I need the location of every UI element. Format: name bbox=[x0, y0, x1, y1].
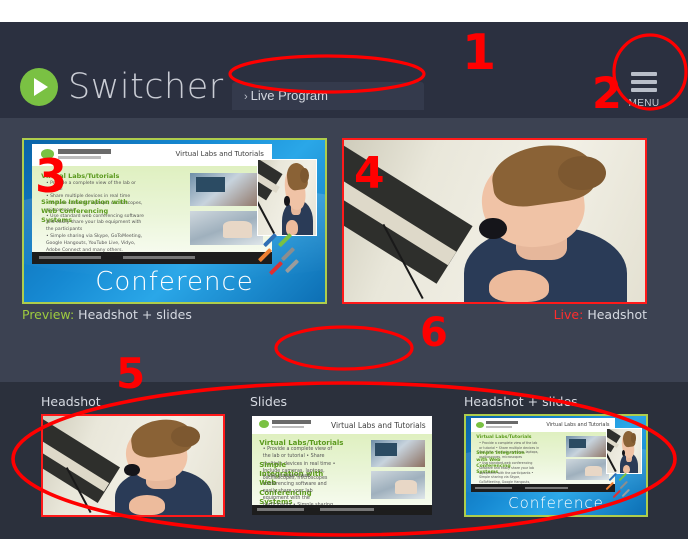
conference-composite-artwork: Virtual Labs and Tutorials Virtual Labs/… bbox=[24, 140, 325, 302]
source-label: Headshot bbox=[41, 394, 225, 409]
live-monitor[interactable] bbox=[342, 138, 647, 304]
tab-live-program[interactable]: ›Live Program bbox=[232, 82, 424, 110]
brand: Switcher bbox=[20, 68, 224, 106]
source-item-headshot-slides[interactable]: Headshot + slides Virtual Labs and Tutor… bbox=[464, 394, 648, 517]
live-monitor-content bbox=[344, 140, 645, 302]
source-strip: Headshot Slides Virtual Labs and Tutoria… bbox=[0, 382, 688, 539]
source-label: Slides bbox=[250, 394, 434, 409]
tab-live-program-label: Live Program bbox=[251, 88, 328, 103]
live-caption: Live: Headshot bbox=[554, 307, 647, 322]
slide-heading-1: Virtual Labs/Tutorials bbox=[476, 435, 531, 440]
preview-monitor-content: Virtual Labs and Tutorials Virtual Labs/… bbox=[24, 140, 325, 302]
top-white-strip bbox=[0, 0, 688, 22]
preview-monitor[interactable]: Virtual Labs and Tutorials Virtual Labs/… bbox=[22, 138, 327, 304]
conference-banner-word: Conference bbox=[24, 267, 325, 297]
hamburger-menu-icon bbox=[631, 72, 657, 96]
preview-caption-key: Preview: bbox=[22, 307, 74, 322]
slide-bullets-2: • Use standard web conferencing software… bbox=[46, 214, 147, 255]
slide-heading-1: Virtual Labs/Tutorials bbox=[41, 172, 119, 180]
slide-artwork: Virtual Labs and Tutorials Virtual Labs/… bbox=[32, 144, 273, 264]
source-thumbnail[interactable]: Virtual Labs and Tutorials Virtual Labs/… bbox=[464, 414, 648, 517]
live-caption-key: Live: bbox=[554, 307, 584, 322]
slide-title: Virtual Labs and Tutorials bbox=[331, 421, 426, 430]
menu-button[interactable]: MENU bbox=[614, 60, 674, 120]
headshot-artwork bbox=[344, 140, 645, 302]
source-item-slides[interactable]: Slides Virtual Labs and Tutorials Virtua… bbox=[250, 394, 434, 517]
preview-caption-value: Headshot + slides bbox=[78, 307, 192, 322]
source-thumbnail[interactable] bbox=[41, 414, 225, 517]
menu-button-label: MENU bbox=[628, 98, 659, 109]
live-caption-value: Headshot bbox=[587, 307, 647, 322]
chevron-right-icon: › bbox=[244, 91, 248, 103]
slide-title: Virtual Labs and Tutorials bbox=[546, 422, 609, 428]
source-label: Headshot + slides bbox=[464, 394, 648, 409]
source-item-headshot[interactable]: Headshot bbox=[41, 394, 225, 517]
switcher-app: Switcher ›Live Program MENU bbox=[0, 0, 688, 539]
stage-area: Virtual Labs and Tutorials Virtual Labs/… bbox=[0, 118, 688, 382]
slide-title: Virtual Labs and Tutorials bbox=[176, 150, 264, 158]
conference-banner-word: Conference bbox=[466, 494, 646, 512]
source-thumbnail[interactable]: Virtual Labs and Tutorials Virtual Labs/… bbox=[250, 414, 434, 517]
preview-inset-headshot bbox=[257, 159, 317, 235]
play-circle-icon bbox=[20, 68, 58, 106]
brand-name: Switcher bbox=[68, 68, 224, 106]
preview-caption: Preview: Headshot + slides bbox=[22, 307, 192, 322]
app-header: Switcher ›Live Program MENU bbox=[0, 22, 688, 118]
